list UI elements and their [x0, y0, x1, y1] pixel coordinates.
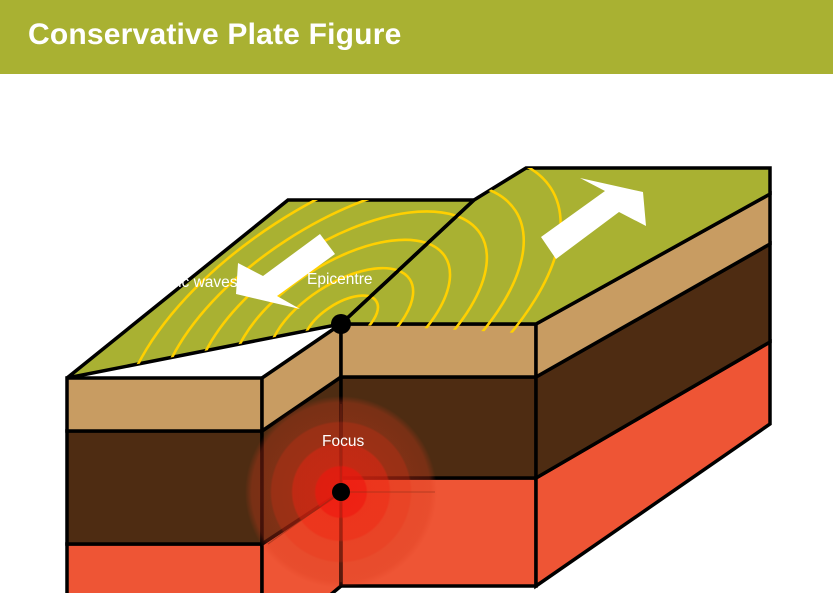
right-plate-sediment-front-face [341, 324, 536, 377]
left-plate-crust-front-face [67, 431, 262, 544]
figure-page: Conservative Plate Figure [0, 0, 833, 593]
epicentre-label: Epicentre [307, 271, 372, 288]
page-title: Conservative Plate Figure [28, 18, 401, 52]
left-plate-magma-front-face [67, 544, 262, 593]
epicentre-dot [331, 314, 351, 334]
left-plate-sediment-front-face [67, 378, 262, 431]
seismic-waves-label: Seismic waves [135, 274, 238, 291]
focus-dot [332, 483, 350, 501]
title-banner: Conservative Plate Figure [0, 0, 833, 74]
plate-boundary-diagram: Seismic waves Epicentre Focus [0, 74, 833, 593]
focus-label: Focus [322, 433, 364, 450]
